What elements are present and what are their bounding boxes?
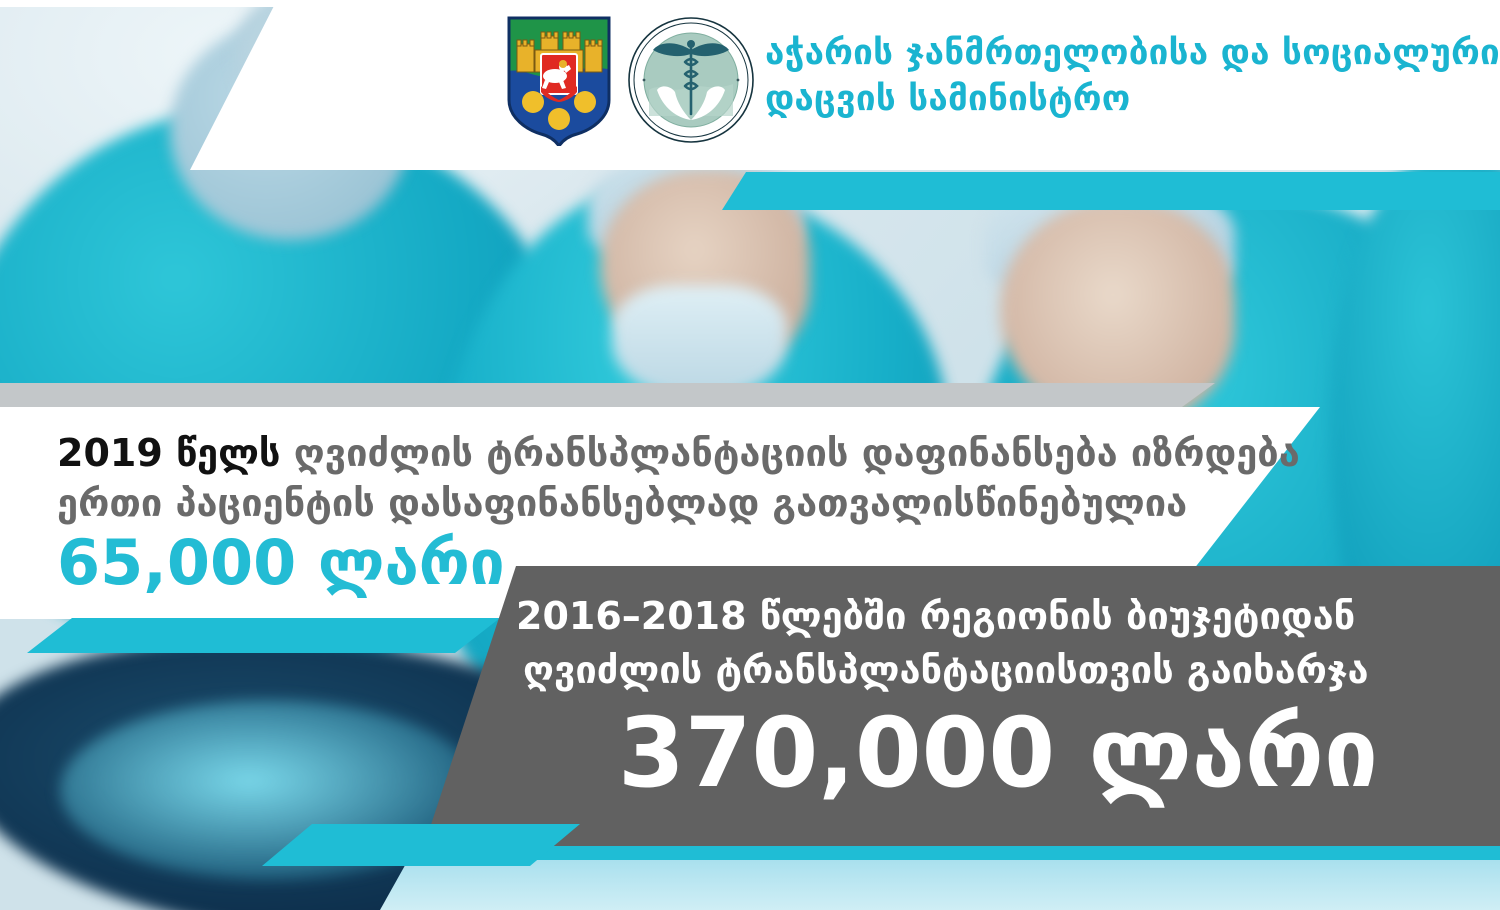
adjara-coat-of-arms-icon xyxy=(505,14,613,146)
grey-panel-line1-rest: რეგიონის ბიუჯეტიდან xyxy=(907,594,1356,638)
white-panel-line1-rest: ღვიძლის ტრანსპლანტაციის დაფინანსება იზრდ… xyxy=(281,431,1300,475)
ministry-title-line1: აჭარის ჯანმრთელობისა და სოციალური xyxy=(765,30,1485,76)
ministry-seal-icon xyxy=(627,16,755,144)
ministry-title-line2: დაცვის სამინისტრო xyxy=(765,76,1485,122)
ministry-title: აჭარის ჯანმრთელობისა და სოციალური დაცვის… xyxy=(765,30,1485,122)
white-panel-accent-bar xyxy=(0,618,520,653)
grey-panel-line2: ღვიძლის ტრანსპლანტაციისთვის გაიხარჯა xyxy=(523,651,1483,689)
white-panel-amount: 65,000 ლარი xyxy=(57,532,505,594)
white-panel-line1: 2019 წელს ღვიძლის ტრანსპლანტაციის დაფინა… xyxy=(57,434,1237,472)
grey-panel-line1: 2016–2018 წლებში რეგიონის ბიუჯეტიდან xyxy=(516,597,1476,635)
grey-panel-line1-highlight: 2016–2018 წლებში xyxy=(516,594,907,638)
white-panel-line1-highlight: 2019 წელს xyxy=(57,431,281,475)
infographic-banner: აჭარის ჯანმრთელობისა და სოციალური დაცვის… xyxy=(0,0,1500,910)
white-panel-line2: ერთი პაციენტის დასაფინანსებლად გათვალისწ… xyxy=(57,484,1237,522)
grey-panel-amount: 370,000 ლარი xyxy=(518,705,1478,801)
header-logos xyxy=(505,14,755,146)
